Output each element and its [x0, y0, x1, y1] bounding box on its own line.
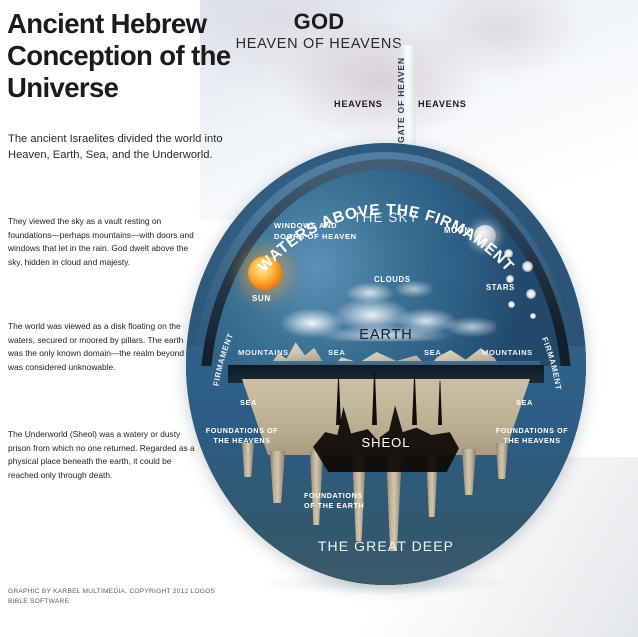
- label-waters-above-the-firmament: WATERS ABOVE THE FIRMAMENT: [255, 201, 517, 275]
- label-heavens-left: HEAVENS: [334, 99, 383, 109]
- label-god: GOD: [0, 9, 638, 35]
- infographic-canvas: Ancient Hebrew Conception of the Univers…: [0, 0, 638, 637]
- label-firmament-right: FIRMAMENT: [540, 336, 563, 391]
- label-heaven-of-heavens: HEAVEN OF HEAVENS: [0, 36, 638, 52]
- label-heavens-right: HEAVENS: [418, 99, 467, 109]
- curved-label-layer: WATERS ABOVE THE FIRMAMENT FIRMAMENT FIR…: [186, 143, 586, 585]
- body-paragraph-sky: They viewed the sky as a vault resting o…: [8, 215, 200, 269]
- body-paragraph-earth: The world was viewed as a disk floating …: [8, 320, 200, 374]
- label-firmament-left: FIRMAMENT: [212, 332, 236, 387]
- body-paragraph-underworld: The Underworld (Sheol) was a watery or d…: [8, 428, 200, 482]
- label-gate-of-heaven: GATE OF HEAVEN: [396, 57, 406, 143]
- credit-line: GRAPHIC BY KARBEL MULTIMEDIA, COPYRIGHT …: [8, 587, 228, 607]
